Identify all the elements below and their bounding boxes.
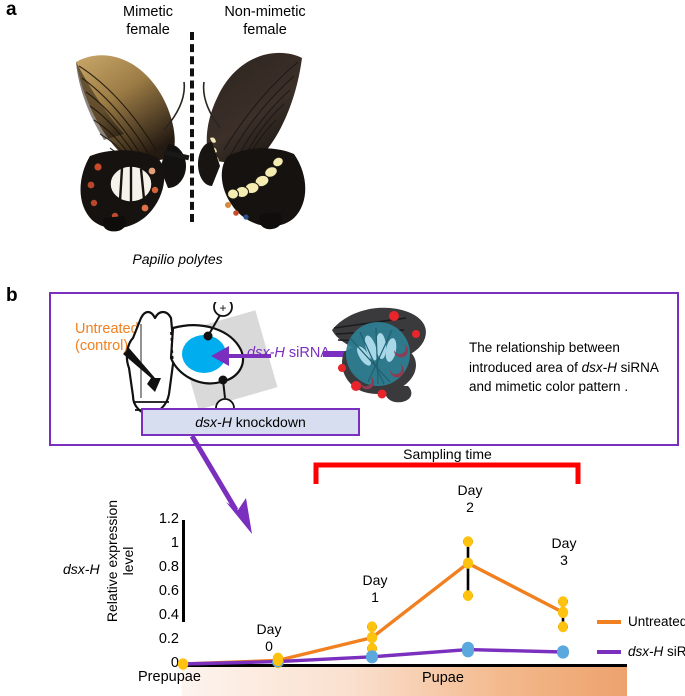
species-name: Papilio polytes <box>100 251 255 267</box>
svg-text:+: + <box>219 302 226 315</box>
legend-swatch-untreated <box>597 620 621 624</box>
knockdown-label: dsx-H knockdown <box>195 414 306 430</box>
data-point-0-4 <box>558 607 568 618</box>
marker-1-2 <box>366 650 378 663</box>
legend-swatch-sirna <box>597 650 621 654</box>
relationship-line3: and mimetic color pattern . <box>469 377 685 397</box>
sampling-time-label: Sampling time <box>360 446 535 462</box>
relationship-line1: The relationship between <box>469 338 685 358</box>
data-point-0-2 <box>367 632 377 643</box>
mimetic-female-title-line2: female <box>93 22 203 40</box>
relationship-description: The relationship between introduced area… <box>469 338 685 397</box>
data-point-1-0 <box>178 658 188 669</box>
mimetic-wing-result-illustration <box>326 298 438 406</box>
legend-item-untreated: Untreated <box>597 614 685 629</box>
relationship-line2-a: introduced area of <box>469 360 582 375</box>
panel-b-letter: b <box>6 286 18 305</box>
chart-plot-area <box>0 464 685 678</box>
data-point-0-3 <box>463 558 473 569</box>
sirna-label-gene: dsx-H <box>247 345 285 361</box>
legend-label-untreated: Untreated <box>628 614 685 629</box>
non-mimetic-female-title: Non-mimetic female <box>205 4 325 39</box>
legend-item-sirna: dsx-H siRNA <box>597 644 685 659</box>
knockdown-gene: dsx-H <box>195 414 232 430</box>
legend-label-sirna-gene: dsx-H <box>628 644 663 659</box>
sirna-label: dsx-H siRNA <box>247 345 330 361</box>
dashed-divider <box>190 32 194 222</box>
expression-chart: dsx-H Relative expression level 1.2 1 0.… <box>0 464 685 678</box>
panel-a-letter: a <box>6 0 17 19</box>
relationship-line2-c: siRNA <box>617 360 659 375</box>
mimetic-female-title: Mimetic female <box>93 4 203 39</box>
marker-1-3 <box>462 642 474 658</box>
dsx-h-knockdown-box: dsx-H knockdown <box>141 408 360 436</box>
panel-b: b Untreated (control) + <box>0 282 685 678</box>
data-point-0-1 <box>273 655 283 666</box>
non-mimetic-female-title-line2: female <box>205 22 325 40</box>
relationship-line2: introduced area of dsx-H siRNA <box>469 358 685 378</box>
legend-label-sirna-rest: siRNA <box>663 644 685 659</box>
mimetic-female-title-line1: Mimetic <box>93 4 203 22</box>
knockdown-rest: knockdown <box>232 414 306 430</box>
non-mimetic-female-butterfly-image <box>198 38 323 233</box>
panel-a: a Mimetic female Non-mimetic female <box>0 0 685 282</box>
non-mimetic-female-title-line1: Non-mimetic <box>205 4 325 22</box>
legend-label-sirna: dsx-H siRNA <box>628 644 685 659</box>
mimetic-female-butterfly-image <box>60 38 195 233</box>
marker-1-4 <box>557 645 569 658</box>
relationship-line2-gene: dsx-H <box>582 360 617 375</box>
